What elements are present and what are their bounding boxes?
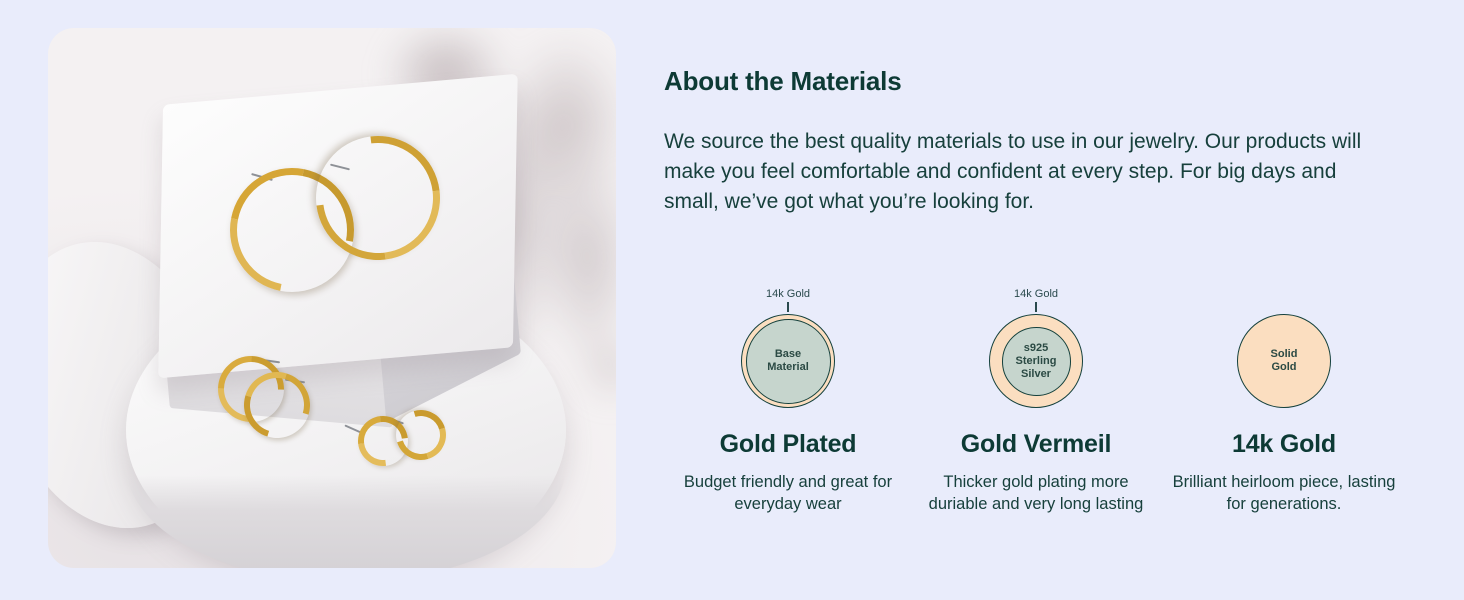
outer-layer-label-wrap: 14k Gold <box>766 288 810 314</box>
card-title: Gold Plated <box>720 430 857 459</box>
core-layer: Base Material <box>746 319 831 404</box>
core-line-1: s925 <box>1016 342 1057 355</box>
materials-comparison: 14k Gold Base Material Gold Plated Budge… <box>664 288 1408 515</box>
core-layer-text: s925 Sterling Silver <box>1016 342 1057 381</box>
card-title: 14k Gold <box>1232 430 1336 459</box>
leader-line <box>787 302 789 312</box>
core-layer: s925 Sterling Silver <box>1002 327 1071 396</box>
product-photo <box>48 28 616 568</box>
material-card-14k-gold: Solid Gold 14k Gold Brilliant heirloom p… <box>1160 288 1408 515</box>
card-description: Thicker gold plating more duriable and v… <box>917 471 1155 515</box>
core-line-3: Silver <box>1016 368 1057 381</box>
core-line-1: Base <box>767 348 809 361</box>
material-card-gold-plated: 14k Gold Base Material Gold Plated Budge… <box>664 288 912 515</box>
page-title: About the Materials <box>664 66 1408 97</box>
material-diagram-gold-plated: Base Material <box>741 314 835 408</box>
core-line-1: Solid <box>1271 348 1298 361</box>
core-line-2: Gold <box>1271 361 1298 374</box>
outer-layer-label-wrap: 14k Gold <box>1014 288 1058 314</box>
materials-text-block: About the Materials We source the best q… <box>664 66 1408 217</box>
core-line-2: Sterling <box>1016 355 1057 368</box>
card-description: Brilliant heirloom piece, lasting for ge… <box>1165 471 1403 515</box>
materials-banner: About the Materials We source the best q… <box>0 0 1464 600</box>
card-title: Gold Vermeil <box>961 430 1111 459</box>
leader-line <box>1035 302 1037 312</box>
card-description: Budget friendly and great for everyday w… <box>669 471 907 515</box>
core-layer-text: Solid Gold <box>1271 348 1298 374</box>
core-line-2: Material <box>767 361 809 374</box>
core-layer-text: Base Material <box>767 348 809 374</box>
outer-layer-label-wrap <box>1283 288 1285 314</box>
material-card-gold-vermeil: 14k Gold s925 Sterling Silver Gold Verme… <box>912 288 1160 515</box>
material-diagram-14k-gold: Solid Gold <box>1237 314 1331 408</box>
outer-layer-label: 14k Gold <box>1014 288 1058 301</box>
material-diagram-gold-vermeil: s925 Sterling Silver <box>989 314 1083 408</box>
intro-paragraph: We source the best quality materials to … <box>664 127 1376 217</box>
outer-layer-label: 14k Gold <box>766 288 810 301</box>
